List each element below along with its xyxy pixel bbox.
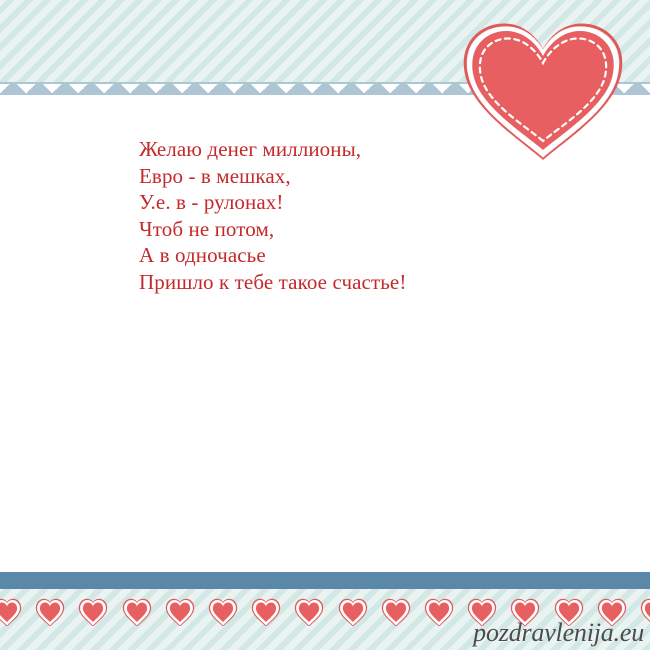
heart-icon (208, 598, 238, 626)
greeting-message: Желаю денег миллионы, Евро - в мешках, У… (139, 136, 559, 295)
heart-icon (251, 598, 281, 626)
heart-icon (35, 598, 65, 626)
heart-icon (424, 598, 454, 626)
message-line: Чтоб не потом, (139, 216, 559, 243)
greeting-card: Желаю денег миллионы, Евро - в мешках, У… (0, 0, 650, 650)
heart-icon (294, 598, 324, 626)
heart-icon (0, 598, 22, 626)
bottom-blue-band (0, 572, 650, 590)
watermark: pozdravlenija.eu (473, 618, 644, 648)
heart-icon (165, 598, 195, 626)
heart-icon (381, 598, 411, 626)
message-line: Пришло к тебе такое счастье! (139, 269, 559, 296)
message-line: Евро - в мешках, (139, 163, 559, 190)
message-line: А в одночасье (139, 242, 559, 269)
message-line: Желаю денег миллионы, (139, 136, 559, 163)
heart-icon (122, 598, 152, 626)
message-line: У.е. в - рулонах! (139, 189, 559, 216)
heart-icon (78, 598, 108, 626)
heart-icon (338, 598, 368, 626)
